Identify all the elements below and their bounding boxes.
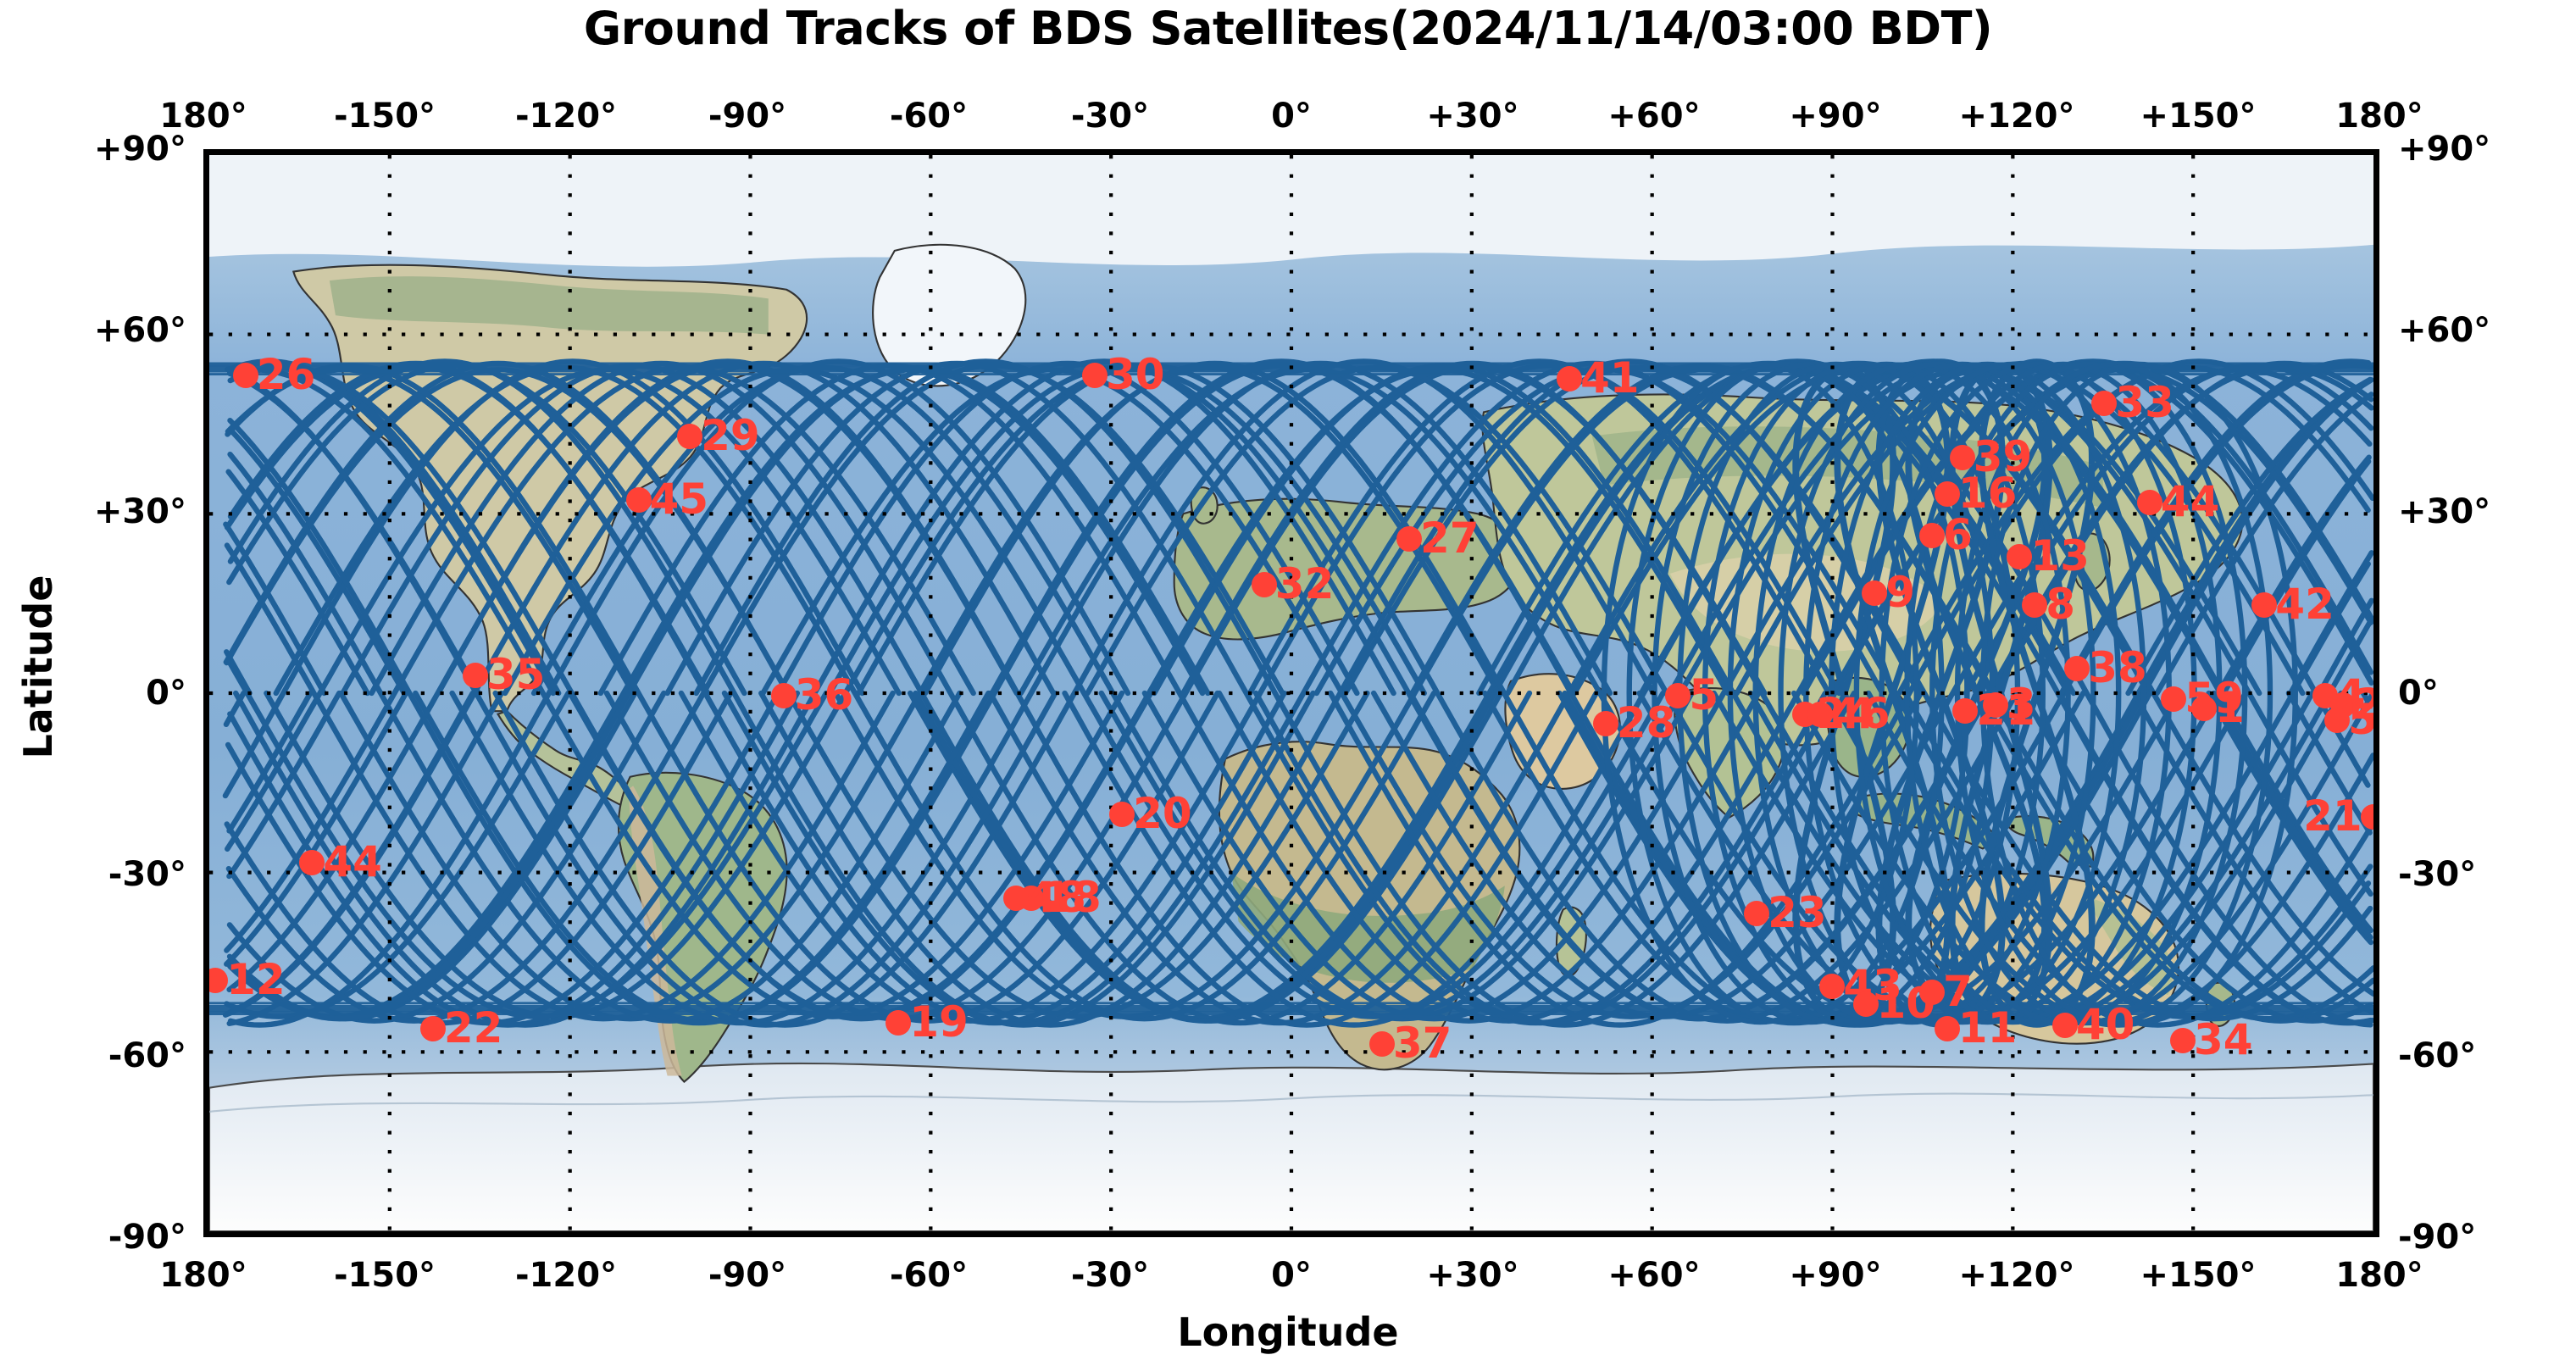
- graticule-grid: [209, 155, 2373, 1231]
- x-axis-title: Longitude: [0, 1309, 2576, 1355]
- lon-tick-bottom: -120°: [515, 1256, 617, 1295]
- lon-tick-bottom: -30°: [1071, 1256, 1149, 1295]
- lat-tick-right: +30°: [2398, 492, 2576, 531]
- lon-tick-top: -150°: [334, 97, 436, 136]
- lon-tick-bottom: +60°: [1607, 1256, 1700, 1295]
- lon-tick-bottom: 180°: [2335, 1256, 2423, 1295]
- lon-tick-top: +120°: [1958, 97, 2074, 136]
- lon-tick-top: +90°: [1789, 97, 1881, 136]
- lon-tick-bottom: -90°: [708, 1256, 786, 1295]
- lat-tick-right: 0°: [2398, 674, 2576, 713]
- lon-tick-top: +60°: [1607, 97, 1700, 136]
- lon-tick-bottom: 0°: [1271, 1256, 1312, 1295]
- y-axis-title: Latitude: [15, 447, 61, 887]
- lat-tick-right: -60°: [2398, 1036, 2576, 1075]
- lat-tick-right: -30°: [2398, 855, 2576, 894]
- lon-tick-top: +150°: [2140, 97, 2256, 136]
- lon-tick-top: -90°: [708, 97, 786, 136]
- lon-tick-bottom: -60°: [890, 1256, 968, 1295]
- lon-tick-bottom: +120°: [1958, 1256, 2074, 1295]
- lat-tick-left: +90°: [4, 130, 186, 169]
- lat-tick-left: -90°: [4, 1218, 186, 1257]
- lon-tick-bottom: -150°: [334, 1256, 436, 1295]
- map-plot-area[interactable]: 26 30 41 33 29 39: [203, 149, 2379, 1237]
- lat-tick-left: +60°: [4, 311, 186, 350]
- lat-tick-right: +90°: [2398, 130, 2576, 169]
- lon-tick-top: 0°: [1271, 97, 1312, 136]
- lon-tick-top: -30°: [1071, 97, 1149, 136]
- map-canvas: [209, 155, 2373, 1231]
- lat-tick-left: -60°: [4, 1036, 186, 1075]
- lon-tick-bottom: 180°: [159, 1256, 247, 1295]
- lon-tick-top: -120°: [515, 97, 617, 136]
- lon-tick-bottom: +150°: [2140, 1256, 2256, 1295]
- lat-tick-right: -90°: [2398, 1218, 2576, 1257]
- page-title: Ground Tracks of BDS Satellites(2024/11/…: [0, 2, 2576, 55]
- lon-tick-bottom: +90°: [1789, 1256, 1881, 1295]
- lon-tick-bottom: +30°: [1426, 1256, 1518, 1295]
- lon-tick-top: -60°: [890, 97, 968, 136]
- lat-tick-right: +60°: [2398, 311, 2576, 350]
- lon-tick-top: +30°: [1426, 97, 1518, 136]
